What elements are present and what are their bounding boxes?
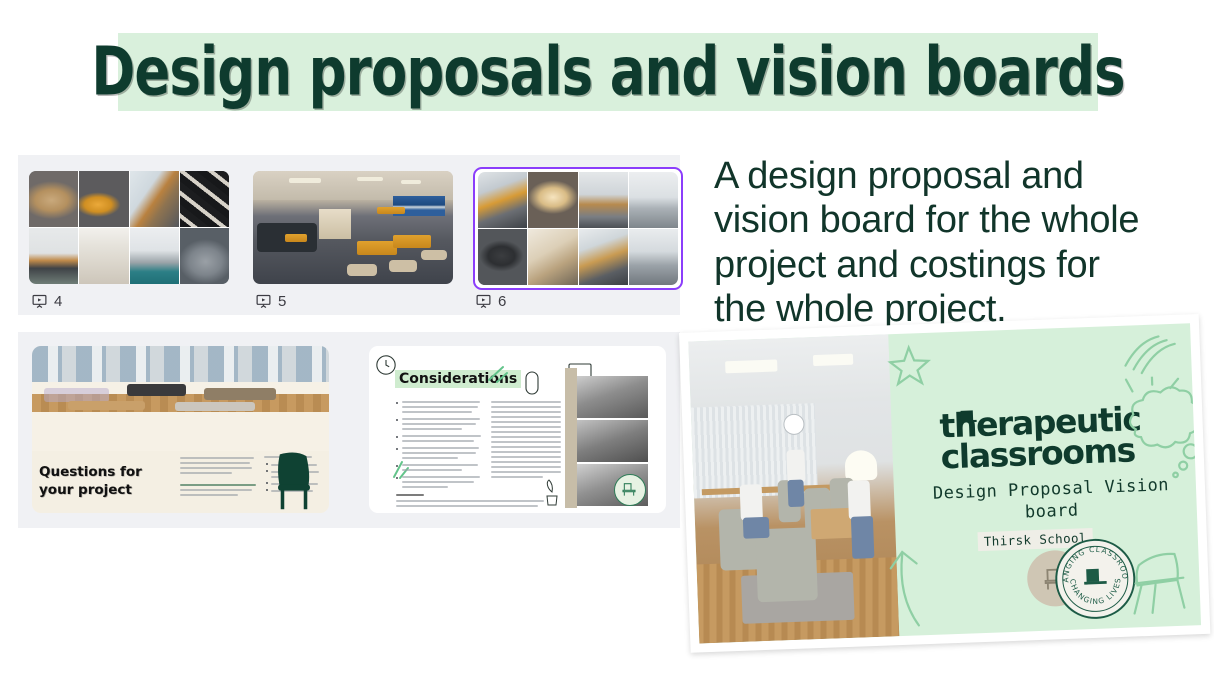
slide-number-label: 4: [32, 293, 62, 310]
collage-cell: [130, 171, 179, 227]
star-doodle-icon: [887, 343, 933, 389]
slide-thumbnail-questions[interactable]: Questions for your project: [32, 346, 329, 513]
considerations-slide-preview: Considerations: [369, 346, 666, 513]
arrow-doodle-icon: [886, 539, 941, 631]
slide-number: 5: [278, 293, 286, 310]
collage-cell: [180, 171, 229, 227]
chair-icon: [1080, 563, 1111, 594]
presentation-slide-icon: [476, 294, 491, 309]
collage-cell: [528, 172, 577, 228]
cloud-doodle-icon: [1108, 375, 1201, 484]
title-banner: Design proposals and vision boards: [118, 33, 1098, 111]
vision-board-title-card[interactable]: therapeutic classrooms Design Proposal V…: [679, 314, 1210, 653]
collage-cell: [79, 228, 128, 284]
plant-icon: [541, 478, 563, 506]
sparkle-doodle-icon: [485, 364, 511, 384]
swoosh-doodle-icon: [1118, 330, 1180, 376]
collage-cell: [180, 228, 229, 284]
slide-thumbnail-5[interactable]: 5: [253, 171, 453, 284]
clock-icon: [375, 354, 397, 376]
slide-number-label: 6: [476, 293, 506, 310]
collage-cell: [579, 172, 628, 228]
presentation-slide-icon: [256, 294, 271, 309]
chair-doodle-icon: [1115, 519, 1201, 618]
collage-cell: [29, 228, 78, 284]
thumbnail-panel-row2: Questions for your project: [18, 332, 680, 528]
presentation-slide-icon: [32, 294, 47, 309]
slide-number-label: 5: [256, 293, 286, 310]
collage-grid: [478, 172, 678, 285]
slide-canvas: Design proposals and vision boards: [0, 0, 1214, 683]
slide-number: 4: [54, 293, 62, 310]
slide-number: 6: [498, 293, 506, 310]
title-card-wrapper: therapeutic classrooms Design Proposal V…: [679, 333, 1214, 678]
page-title: Design proposals and vision boards: [152, 26, 1063, 118]
chair-illustration: [267, 449, 321, 511]
slide-thumbnail-6[interactable]: 6: [473, 167, 683, 290]
room-render-image: [253, 171, 453, 284]
collage-cell: [29, 171, 78, 227]
collage-cell: [629, 229, 678, 285]
classroom-photo: [688, 334, 899, 643]
collage-grid: [29, 171, 229, 284]
collage-cell: [629, 172, 678, 228]
collage-cell: [478, 172, 527, 228]
slide-thumbnail-considerations[interactable]: Considerations: [369, 346, 666, 513]
questions-slide-heading: Questions for your project: [39, 463, 171, 499]
chair-icon: [621, 481, 637, 497]
collage-cell: [478, 229, 527, 285]
description-text: A design proposal and vision board for t…: [714, 154, 1144, 332]
collage-cell: [579, 229, 628, 285]
thumbnail-panel-row1: 4: [18, 155, 680, 315]
collage-cell: [130, 228, 179, 284]
chair-icon: [957, 407, 979, 430]
collage-cell: [79, 171, 128, 227]
selection-ring: [473, 167, 683, 290]
questions-slide-preview: Questions for your project: [32, 346, 329, 513]
collage-cell: [528, 229, 577, 285]
slide-thumbnail-4[interactable]: 4: [29, 171, 229, 284]
speaker-icon: [524, 370, 540, 396]
